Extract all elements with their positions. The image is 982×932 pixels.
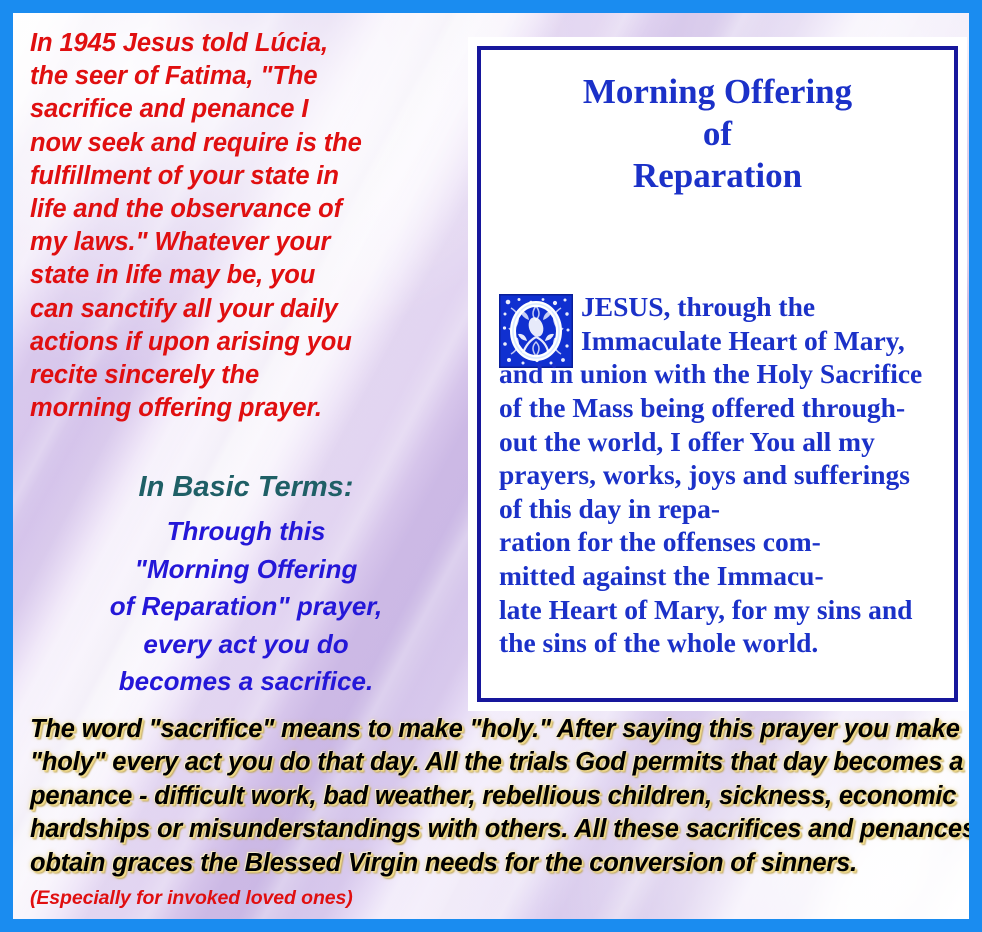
basic-terms-heading: In Basic Terms:: [30, 470, 462, 504]
prayer-card-frame: Morning Offering of Reparation: [477, 46, 958, 702]
footer-paragraph: The word "sacrifice" means to make "holy…: [30, 715, 976, 877]
prayer-body: JESUS, through the Immaculate Heart of M…: [499, 223, 936, 660]
footer-note: (Especially for invoked loved ones): [30, 887, 353, 909]
prayer-card-title: Morning Offering of Reparation: [499, 71, 936, 197]
intro-paragraph: In 1945 Jesus told Lúcia, the seer of Fa…: [30, 27, 462, 425]
illuminated-dropcap-o-icon: [499, 261, 573, 335]
footer-paragraph-block: The word "sacrifice" means to make "holy…: [30, 713, 980, 915]
devotional-poster: In 1945 Jesus told Lúcia, the seer of Fa…: [0, 0, 982, 932]
basic-terms-body: Through this "Morning Offering of Repara…: [30, 513, 462, 701]
prayer-card: Morning Offering of Reparation: [468, 37, 967, 711]
